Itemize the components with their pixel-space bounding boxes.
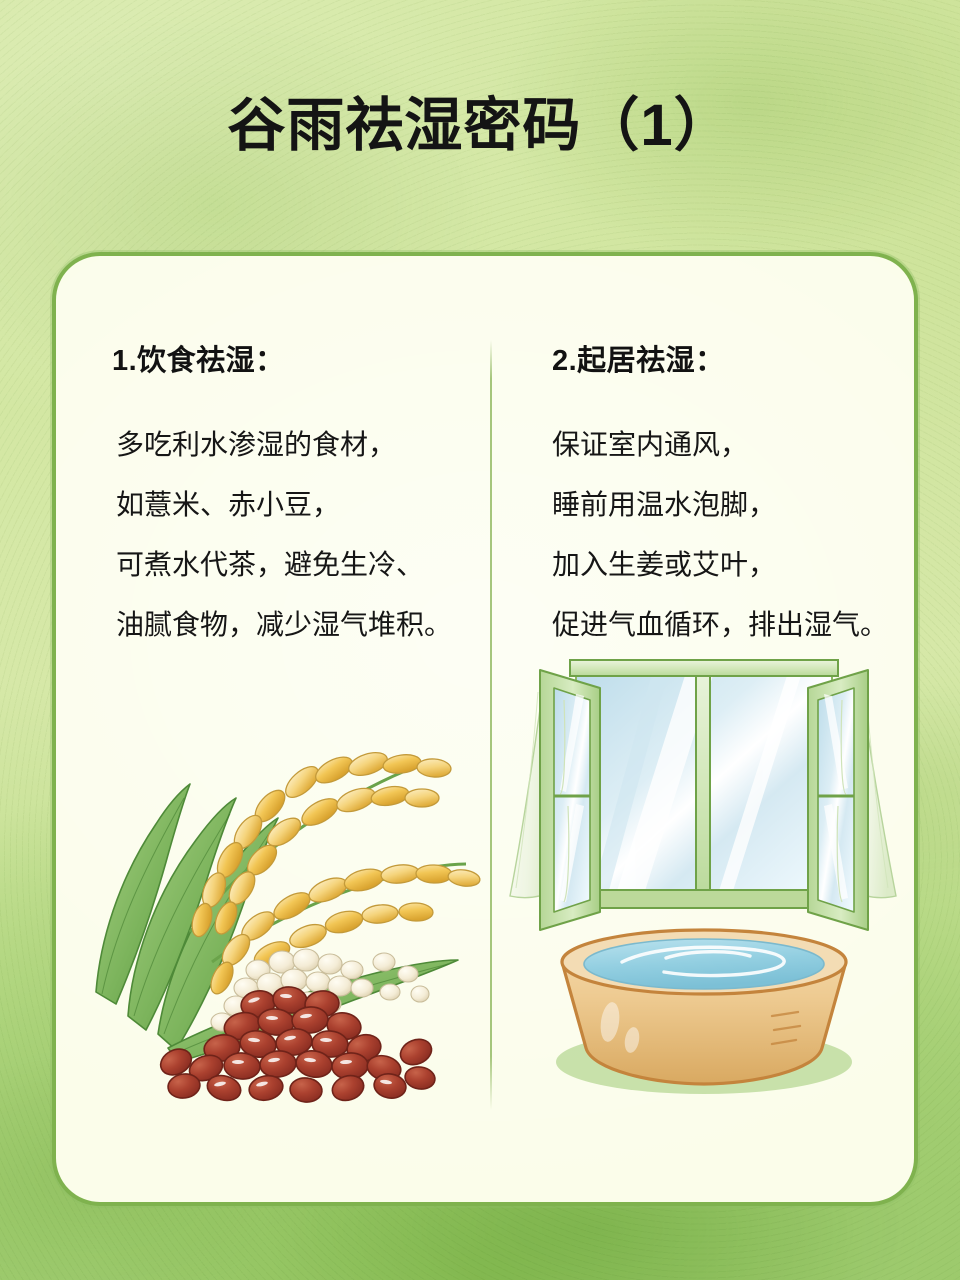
open-window-foot-basin-illustration: [504, 644, 904, 1106]
window-sash-right: [808, 670, 868, 930]
window-sill: [564, 890, 844, 908]
body-line: 多吃利水渗湿的食材，: [116, 431, 472, 459]
section-body-lifestyle: 保证室内通风， 睡前用温水泡脚， 加入生姜或艾叶， 促进气血循环，排出湿气。: [552, 431, 918, 639]
rice-barley-adzuki-illustration: [72, 674, 484, 1104]
water-basin: [562, 930, 846, 1084]
column-lifestyle: 2.起居祛湿： 保证室内通风， 睡前用温水泡脚， 加入生姜或艾叶， 促进气血循环…: [552, 344, 918, 639]
window-mullion: [696, 662, 710, 902]
column-diet: 1.饮食祛湿： 多吃利水渗湿的食材， 如薏米、赤小豆， 可煮水代茶，避免生冷、 …: [112, 344, 472, 639]
section-body-diet: 多吃利水渗湿的食材， 如薏米、赤小豆， 可煮水代茶，避免生冷、 油腻食物，减少湿…: [112, 431, 472, 639]
body-line: 保证室内通风，: [552, 431, 918, 459]
body-line: 油腻食物，减少湿气堆积。: [116, 611, 472, 639]
content-card: 1.饮食祛湿： 多吃利水渗湿的食材， 如薏米、赤小豆， 可煮水代茶，避免生冷、 …: [52, 252, 918, 1206]
body-line: 加入生姜或艾叶，: [552, 551, 918, 579]
body-line: 促进气血循环，排出湿气。: [552, 611, 918, 639]
page-title: 谷雨祛湿密码（1）: [0, 94, 960, 159]
body-line: 睡前用温水泡脚，: [552, 491, 918, 519]
column-divider: [490, 340, 492, 1110]
window-header: [570, 660, 838, 676]
body-line: 可煮水代茶，避免生冷、: [116, 551, 472, 579]
section-heading-diet: 1.饮食祛湿：: [112, 344, 472, 379]
window-sash-left: [540, 670, 600, 930]
body-line: 如薏米、赤小豆，: [116, 491, 472, 519]
section-heading-lifestyle: 2.起居祛湿：: [552, 344, 918, 379]
poster-canvas: 谷雨祛湿密码（1） 1.饮食祛湿： 多吃利水渗湿的食材， 如薏米、赤小豆， 可煮…: [0, 0, 960, 1280]
